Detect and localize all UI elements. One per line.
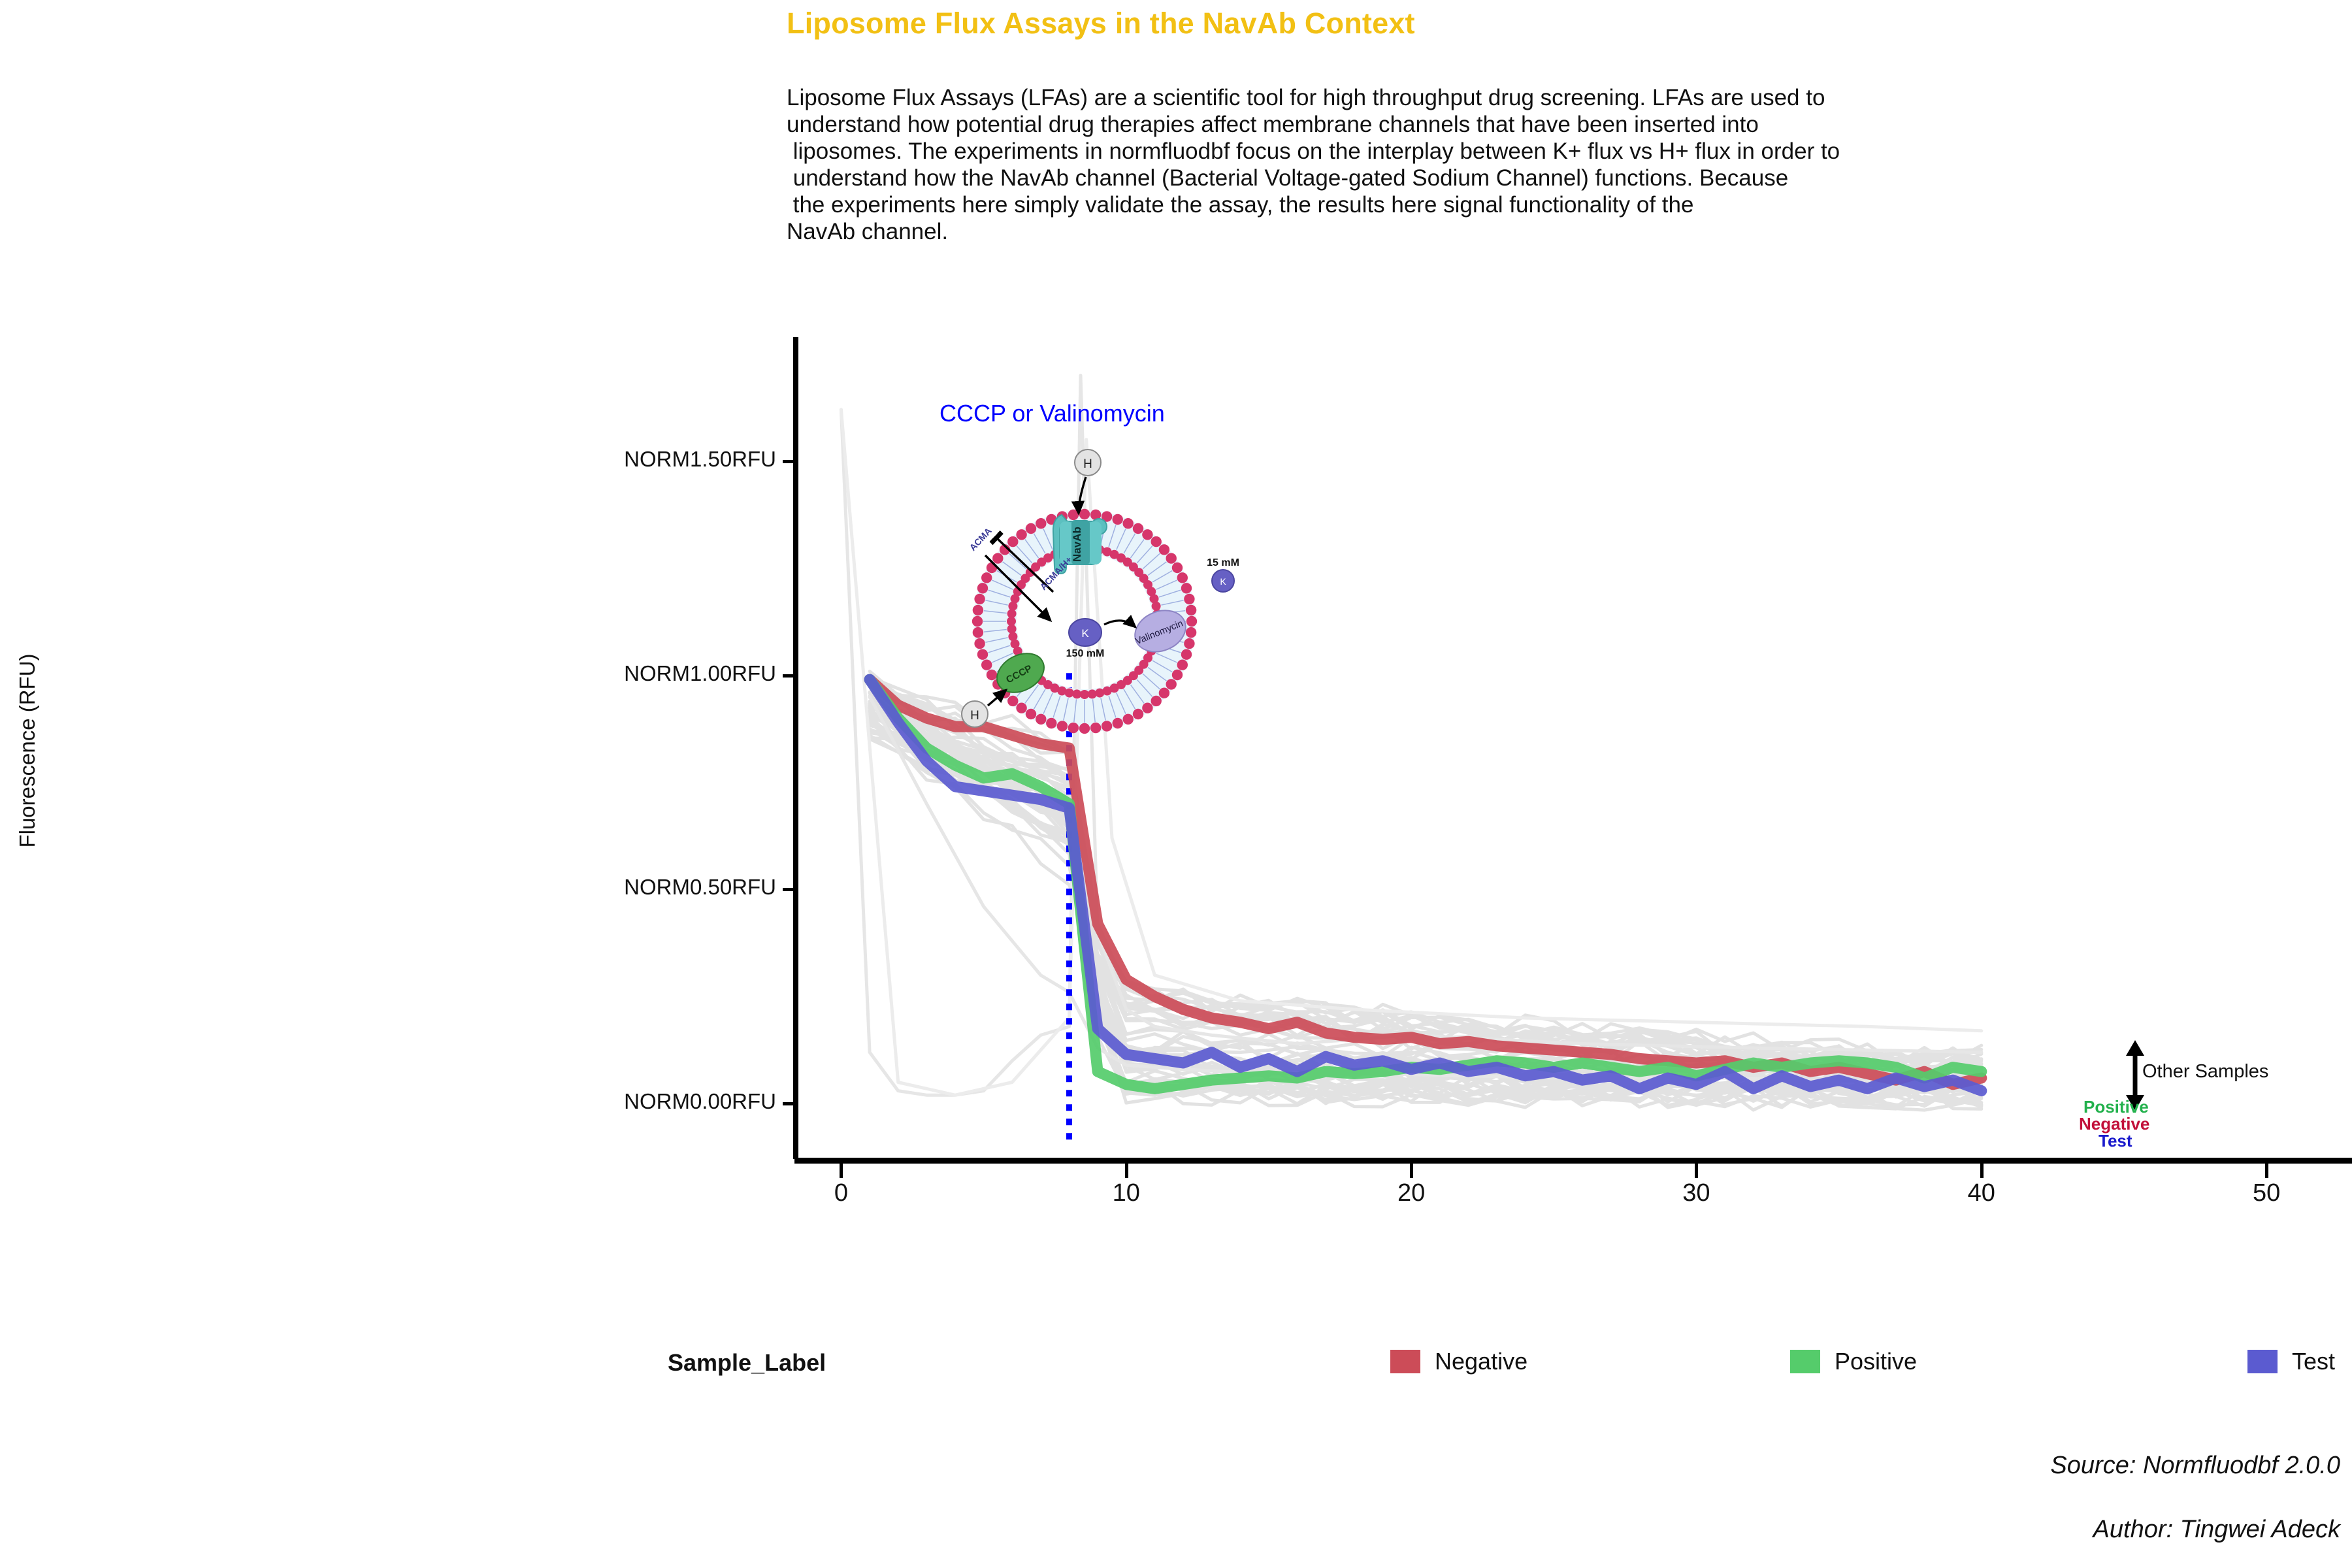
liposome-diagram-inset: NavAb H CCCP H Valinomycin <box>947 443 1281 750</box>
k-outside-concentration: 15 mM <box>1207 557 1239 568</box>
y-tick-mark <box>783 888 793 891</box>
y-tick-label: NORM1.50RFU <box>624 447 776 472</box>
legend-item-negative[interactable]: Negative <box>1390 1348 1527 1375</box>
other-samples-label: Other Samples <box>2142 1061 2268 1083</box>
y-tick-mark <box>783 460 793 463</box>
y-tick-label: NORM1.00RFU <box>624 661 776 686</box>
y-axis-title: Fluorescence (RFU) <box>15 613 40 888</box>
svg-text:H: H <box>1083 457 1092 471</box>
potassium-inside-icon: K 150 mM <box>1066 619 1135 659</box>
x-tick-mark <box>1410 1164 1413 1178</box>
figure-subtitle: Liposome Flux Assays (LFAs) are a scient… <box>787 85 2352 246</box>
cccp-valinomycin-annotation: CCCP or Valinomycin <box>939 400 1165 427</box>
x-tick-label: 20 <box>1372 1179 1450 1207</box>
x-tick-label: 40 <box>1942 1179 2021 1207</box>
x-tick-mark <box>1980 1164 1984 1178</box>
figure-title: Liposome Flux Assays in the NavAb Contex… <box>787 7 1415 41</box>
x-tick-label: 0 <box>802 1179 880 1207</box>
proton-top-icon: H <box>1075 449 1101 514</box>
legend-label-positive: Positive <box>1835 1348 1917 1375</box>
svg-text:H: H <box>970 709 979 723</box>
legend-swatch-test <box>2247 1350 2278 1373</box>
y-tick-mark <box>783 1102 793 1105</box>
y-tick-label: NORM0.50RFU <box>624 875 776 900</box>
legend-item-positive[interactable]: Positive <box>1790 1348 1917 1375</box>
acma-label: ACMA <box>967 525 993 553</box>
navab-label: NavAb <box>1071 527 1083 562</box>
x-tick-label: 30 <box>1657 1179 1735 1207</box>
legend-swatch-positive <box>1790 1350 1820 1373</box>
potassium-outside-icon: 15 mM K <box>1207 557 1239 592</box>
x-axis-line <box>794 1158 2352 1164</box>
x-tick-label: 10 <box>1087 1179 1166 1207</box>
y-tick-mark <box>783 674 793 678</box>
svg-text:K: K <box>1081 627 1089 640</box>
legend-label-negative: Negative <box>1435 1348 1527 1375</box>
liposome-schematic: NavAb H CCCP H Valinomycin <box>947 443 1281 750</box>
author-caption: Author: Tingwei Adeck <box>0 1516 2340 1544</box>
legend-item-test[interactable]: Test <box>2247 1348 2335 1375</box>
legend-swatch-negative <box>1390 1350 1420 1373</box>
legend-title: Sample_Label <box>668 1349 826 1377</box>
legend-label-test: Test <box>2292 1348 2335 1375</box>
y-tick-label: NORM0.00RFU <box>624 1089 776 1114</box>
k-inside-concentration: 150 mM <box>1066 648 1105 659</box>
svg-text:K: K <box>1220 576 1226 587</box>
x-tick-mark <box>2265 1164 2268 1178</box>
test-annotation-label: Test <box>2099 1131 2132 1151</box>
x-tick-mark <box>1125 1164 1128 1178</box>
y-axis-line <box>793 337 798 1159</box>
x-tick-label: 50 <box>2227 1179 2306 1207</box>
x-tick-mark <box>1695 1164 1698 1178</box>
x-tick-mark <box>840 1164 843 1178</box>
proton-bottom-icon: H <box>962 690 1006 727</box>
source-caption: Source: Normfluodbf 2.0.0 <box>0 1452 2340 1480</box>
